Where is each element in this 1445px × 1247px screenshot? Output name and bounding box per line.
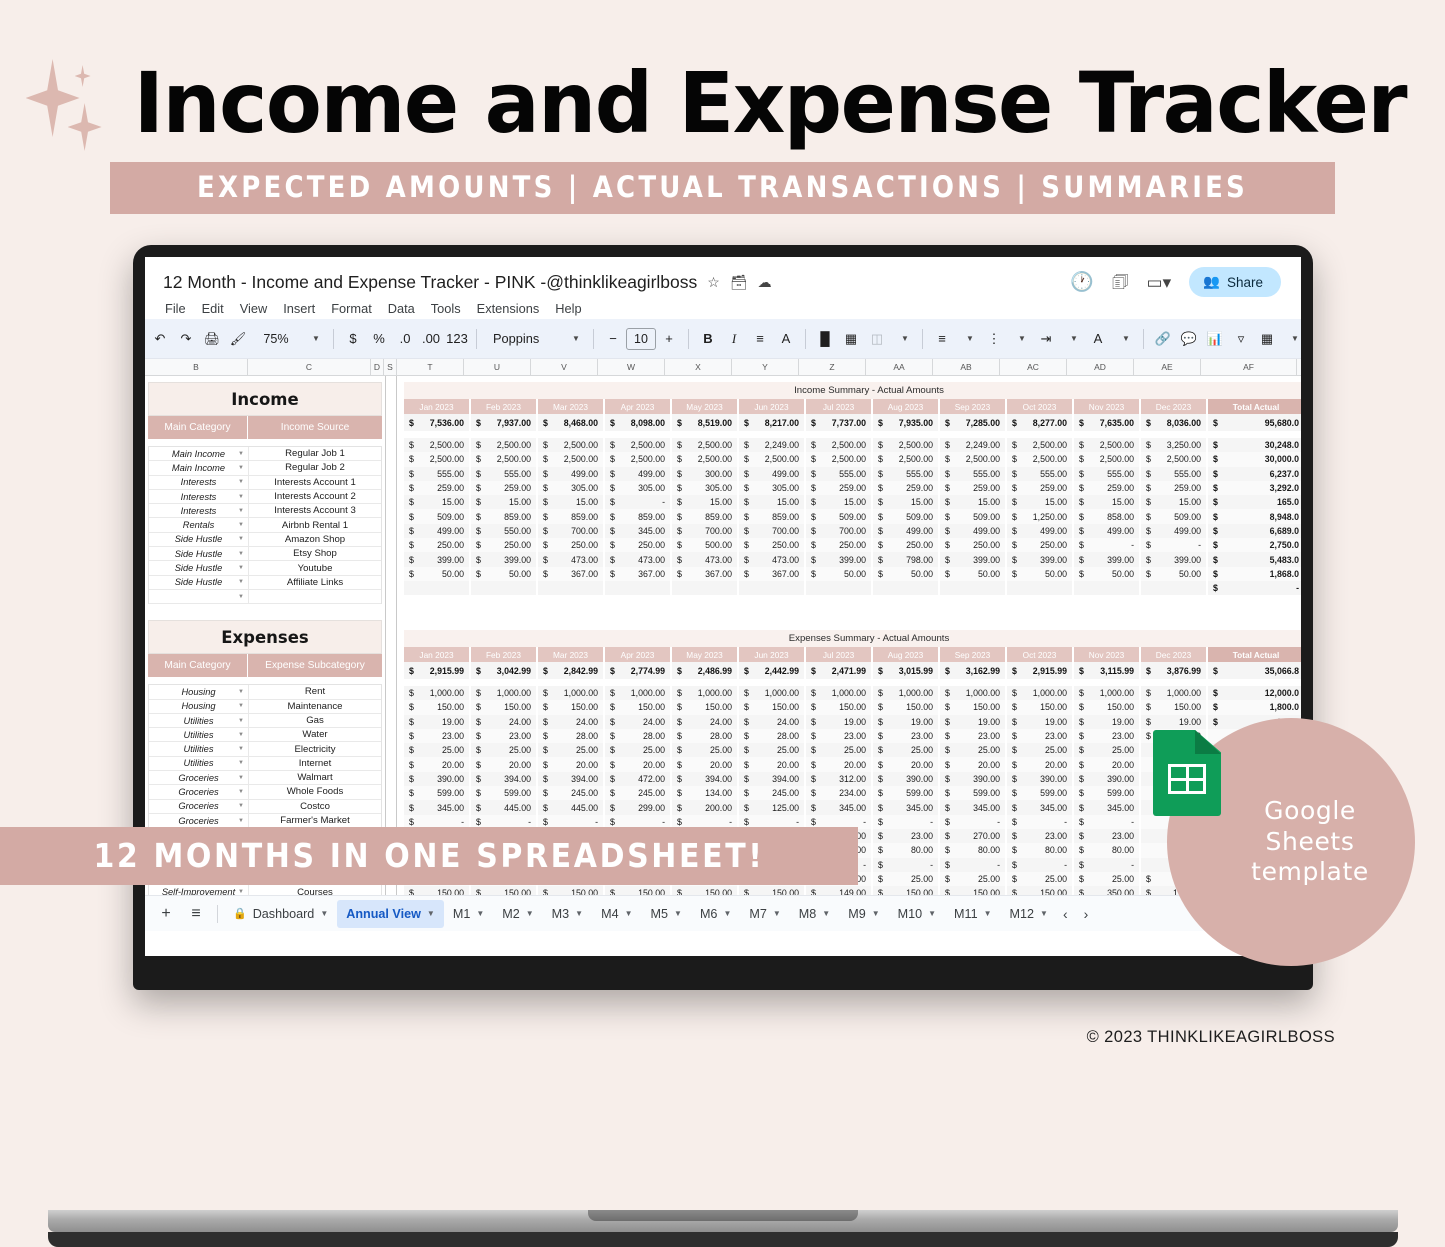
amount-cell[interactable]: $599.00 xyxy=(1007,786,1074,800)
amount-cell[interactable]: $509.00 xyxy=(873,509,940,523)
chevron-down-icon[interactable]: ▼ xyxy=(238,479,244,485)
subcategory-cell[interactable]: Etsy Shop xyxy=(249,547,381,560)
amount-cell[interactable]: $150.00 xyxy=(940,700,1007,714)
insert-comment-icon[interactable]: 💬 xyxy=(1176,325,1202,353)
subcategory-cell[interactable]: Whole Foods xyxy=(249,785,381,798)
amount-cell[interactable]: $15.00 xyxy=(873,495,940,509)
amount-cell[interactable]: $473.00 xyxy=(672,552,739,566)
amount-cell[interactable]: $25.00 xyxy=(1007,872,1074,886)
borders-icon[interactable]: ▦ xyxy=(838,325,864,353)
chevron-down-icon[interactable]: ▼ xyxy=(238,689,244,695)
amount-cell[interactable]: $1,000.00 xyxy=(605,686,672,700)
text-color-icon[interactable]: A xyxy=(773,325,799,353)
amount-cell[interactable]: $150.00 xyxy=(672,700,739,714)
amount-cell[interactable]: $499.00 xyxy=(940,524,1007,538)
main-category-cell[interactable]: Side Hustle▼ xyxy=(149,561,249,574)
amount-cell[interactable]: $345.00 xyxy=(1074,800,1141,814)
amount-cell[interactable]: $700.00 xyxy=(672,524,739,538)
table-row[interactable]: Groceries▼Whole Foods xyxy=(149,785,381,799)
amount-cell[interactable]: $15.00 xyxy=(1141,495,1208,509)
amount-cell[interactable]: $24.00 xyxy=(605,715,672,729)
main-category-cell[interactable]: Housing▼ xyxy=(149,700,249,713)
amount-cell[interactable]: $3,876.99 xyxy=(1141,662,1208,679)
amount-cell[interactable]: $2,915.99 xyxy=(404,662,471,679)
amount-cell[interactable]: $- xyxy=(605,495,672,509)
amount-cell[interactable]: $250.00 xyxy=(739,538,806,552)
sheet-tab-m1[interactable]: M1▼ xyxy=(444,900,493,928)
amount-cell[interactable]: $150.00 xyxy=(1141,700,1208,714)
amount-cell[interactable]: $390.00 xyxy=(1007,772,1074,786)
amount-cell[interactable]: $19.00 xyxy=(1074,715,1141,729)
decrease-decimal-button[interactable]: .0 xyxy=(392,325,418,353)
font-size-input[interactable]: 10 xyxy=(626,328,656,350)
amount-cell[interactable]: $259.00 xyxy=(806,481,873,495)
amount-cell[interactable]: $509.00 xyxy=(806,509,873,523)
menu-item-edit[interactable]: Edit xyxy=(202,301,224,316)
insert-chart-icon[interactable]: 📊 xyxy=(1202,325,1228,353)
amount-cell[interactable]: $23.00 xyxy=(806,729,873,743)
column-header-AE[interactable]: AE xyxy=(1134,359,1201,375)
sheet-tab-m7[interactable]: M7▼ xyxy=(740,900,789,928)
amount-cell[interactable]: $19.00 xyxy=(940,715,1007,729)
all-sheets-icon[interactable]: ≡ xyxy=(181,899,211,929)
main-category-cell[interactable]: Main Income▼ xyxy=(149,461,249,474)
amount-cell[interactable]: $499.00 xyxy=(1074,524,1141,538)
amount-cell[interactable]: $25.00 xyxy=(404,743,471,757)
amount-cell[interactable]: $- xyxy=(1074,858,1141,872)
amount-cell[interactable]: $312.00 xyxy=(806,772,873,786)
amount-cell[interactable]: $599.00 xyxy=(940,786,1007,800)
subcategory-cell[interactable]: Walmart xyxy=(249,771,381,784)
amount-cell[interactable]: $19.00 xyxy=(404,715,471,729)
share-button[interactable]: 👥 Share xyxy=(1189,267,1281,297)
amount-cell[interactable]: $20.00 xyxy=(873,757,940,771)
amount-cell[interactable]: $859.00 xyxy=(538,509,605,523)
amount-cell[interactable]: $700.00 xyxy=(806,524,873,538)
column-header-B[interactable]: B xyxy=(145,359,248,375)
amount-cell[interactable]: $555.00 xyxy=(873,467,940,481)
menu-item-data[interactable]: Data xyxy=(388,301,415,316)
table-row[interactable]: Utilities▼Water xyxy=(149,728,381,742)
amount-cell[interactable]: $394.00 xyxy=(538,772,605,786)
amount-cell[interactable]: $20.00 xyxy=(1007,757,1074,771)
amount-cell[interactable]: $250.00 xyxy=(806,538,873,552)
main-category-cell[interactable]: Rentals▼ xyxy=(149,518,249,531)
rotation-chevron-down-icon[interactable]: ▼ xyxy=(1111,325,1137,353)
chevron-down-icon[interactable]: ▼ xyxy=(723,909,731,918)
amount-cell[interactable]: $250.00 xyxy=(605,538,672,552)
amount-cell[interactable]: $700.00 xyxy=(739,524,806,538)
amount-cell[interactable]: $2,915.99 xyxy=(1007,662,1074,679)
chevron-down-icon[interactable]: ▼ xyxy=(238,465,244,471)
comment-icon[interactable]: 🗊 xyxy=(1112,273,1129,291)
amount-cell[interactable]: $25.00 xyxy=(1007,743,1074,757)
increase-font-size-button[interactable]: + xyxy=(656,325,682,353)
amount-cell[interactable]: $23.00 xyxy=(1007,829,1074,843)
subcategory-cell[interactable]: Amazon Shop xyxy=(249,533,381,546)
chevron-down-icon[interactable]: ▼ xyxy=(238,760,244,766)
amount-cell[interactable]: $8,036.00 xyxy=(1141,414,1208,431)
amount-cell[interactable]: $20.00 xyxy=(940,757,1007,771)
undo-icon[interactable]: ↶ xyxy=(147,325,173,353)
table-row[interactable]: Side Hustle▼Etsy Shop xyxy=(149,547,381,561)
subcategory-cell[interactable]: Maintenance xyxy=(249,700,381,713)
chevron-down-icon[interactable]: ▼ xyxy=(238,565,244,571)
main-category-cell[interactable]: Utilities▼ xyxy=(149,757,249,770)
amount-cell[interactable]: $245.00 xyxy=(739,786,806,800)
amount-cell[interactable]: $245.00 xyxy=(538,786,605,800)
amount-cell[interactable]: $2,774.99 xyxy=(605,662,672,679)
amount-cell[interactable]: $20.00 xyxy=(739,757,806,771)
vertical-align-icon[interactable]: ⋮ xyxy=(981,325,1007,353)
amount-cell[interactable]: $1,000.00 xyxy=(873,686,940,700)
meet-icon[interactable]: ▭▾ xyxy=(1147,274,1172,291)
amount-cell[interactable]: $19.00 xyxy=(1007,715,1074,729)
valign-chevron-down-icon[interactable]: ▼ xyxy=(1007,325,1033,353)
amount-cell[interactable]: $25.00 xyxy=(471,743,538,757)
amount-cell[interactable]: $390.00 xyxy=(940,772,1007,786)
total-cell[interactable]: $165.0 xyxy=(1208,495,1301,509)
amount-cell[interactable]: $7,737.00 xyxy=(806,414,873,431)
amount-cell[interactable]: $150.00 xyxy=(1074,700,1141,714)
column-header-W[interactable]: W xyxy=(598,359,665,375)
sheet-tab-m6[interactable]: M6▼ xyxy=(691,900,740,928)
main-category-cell[interactable]: Side Hustle▼ xyxy=(149,547,249,560)
amount-cell[interactable]: $23.00 xyxy=(471,729,538,743)
amount-cell[interactable]: $24.00 xyxy=(471,715,538,729)
amount-cell[interactable]: $305.00 xyxy=(538,481,605,495)
column-header-S[interactable]: S xyxy=(384,359,397,375)
amount-cell[interactable]: $394.00 xyxy=(739,772,806,786)
amount-cell[interactable]: $500.00 xyxy=(672,538,739,552)
amount-cell[interactable]: $125.00 xyxy=(739,800,806,814)
amount-cell[interactable]: $2,500.00 xyxy=(739,452,806,466)
amount-cell[interactable]: $1,000.00 xyxy=(940,686,1007,700)
amount-cell[interactable] xyxy=(1074,581,1141,595)
amount-cell[interactable]: $2,249.00 xyxy=(739,438,806,452)
amount-cell[interactable]: $28.00 xyxy=(672,729,739,743)
amount-cell[interactable]: $150.00 xyxy=(404,700,471,714)
chevron-down-icon[interactable]: ▼ xyxy=(320,909,328,918)
amount-cell[interactable]: $2,500.00 xyxy=(605,452,672,466)
amount-cell[interactable]: $150.00 xyxy=(1007,700,1074,714)
amount-cell[interactable]: $2,500.00 xyxy=(873,438,940,452)
amount-cell[interactable]: $2,471.99 xyxy=(806,662,873,679)
amount-cell[interactable]: $390.00 xyxy=(1074,772,1141,786)
column-header-V[interactable]: V xyxy=(531,359,598,375)
amount-cell[interactable]: $20.00 xyxy=(605,757,672,771)
amount-cell[interactable]: $20.00 xyxy=(404,757,471,771)
amount-cell[interactable]: $399.00 xyxy=(1074,552,1141,566)
amount-cell[interactable]: $250.00 xyxy=(471,538,538,552)
chevron-down-icon[interactable]: ▼ xyxy=(238,522,244,528)
amount-cell[interactable]: $7,635.00 xyxy=(1074,414,1141,431)
chevron-down-icon[interactable]: ▼ xyxy=(238,732,244,738)
amount-cell[interactable]: $50.00 xyxy=(806,567,873,581)
chevron-down-icon[interactable]: ▼ xyxy=(427,909,435,918)
font-chevron-down-icon[interactable]: ▼ xyxy=(561,325,587,353)
amount-cell[interactable]: $3,042.99 xyxy=(471,662,538,679)
column-header-X[interactable]: X xyxy=(665,359,732,375)
amount-cell[interactable]: $19.00 xyxy=(873,715,940,729)
amount-cell[interactable]: $- xyxy=(940,815,1007,829)
amount-cell[interactable]: $134.00 xyxy=(672,786,739,800)
redo-icon[interactable]: ↷ xyxy=(173,325,199,353)
column-header-AC[interactable]: AC xyxy=(1000,359,1067,375)
main-category-cell[interactable]: Groceries▼ xyxy=(149,785,249,798)
amount-cell[interactable]: $1,250.00 xyxy=(1007,509,1074,523)
amount-cell[interactable]: $25.00 xyxy=(672,743,739,757)
amount-cell[interactable]: $250.00 xyxy=(940,538,1007,552)
amount-cell[interactable]: $20.00 xyxy=(1074,757,1141,771)
amount-cell[interactable]: $1,000.00 xyxy=(1007,686,1074,700)
menu-item-extensions[interactable]: Extensions xyxy=(477,301,540,316)
amount-cell[interactable]: $798.00 xyxy=(873,552,940,566)
total-cell[interactable]: $2,750.0 xyxy=(1208,538,1301,552)
total-cell[interactable]: $5,483.0 xyxy=(1208,552,1301,566)
amount-cell[interactable]: $3,250.00 xyxy=(1141,438,1208,452)
chevron-down-icon[interactable]: ▼ xyxy=(238,579,244,585)
amount-cell[interactable]: $499.00 xyxy=(873,524,940,538)
amount-cell[interactable]: $700.00 xyxy=(538,524,605,538)
font-family-select[interactable]: Poppins xyxy=(483,325,561,353)
column-header-D[interactable]: D xyxy=(371,359,384,375)
amount-cell[interactable]: $15.00 xyxy=(538,495,605,509)
amount-cell[interactable]: $2,249.00 xyxy=(940,438,1007,452)
amount-cell[interactable]: $2,500.00 xyxy=(605,438,672,452)
amount-cell[interactable]: $25.00 xyxy=(940,872,1007,886)
amount-cell[interactable]: $509.00 xyxy=(404,509,471,523)
table-row[interactable]: Interests▼Interests Account 3 xyxy=(149,504,381,518)
chevron-down-icon[interactable]: ▼ xyxy=(238,536,244,542)
subcategory-cell[interactable]: Rent xyxy=(249,685,381,698)
amount-cell[interactable] xyxy=(940,581,1007,595)
move-to-folder-icon[interactable]: 🗃 xyxy=(730,275,748,289)
amount-cell[interactable]: $23.00 xyxy=(1074,829,1141,843)
total-cell[interactable]: $30,248.0 xyxy=(1208,438,1301,452)
amount-cell[interactable]: $2,500.00 xyxy=(1074,438,1141,452)
amount-cell[interactable]: $399.00 xyxy=(1141,552,1208,566)
amount-cell[interactable]: $550.00 xyxy=(471,524,538,538)
menu-item-file[interactable]: File xyxy=(165,301,186,316)
amount-cell[interactable]: $2,500.00 xyxy=(404,452,471,466)
amount-cell[interactable]: $1,000.00 xyxy=(538,686,605,700)
amount-cell[interactable]: $259.00 xyxy=(1007,481,1074,495)
amount-cell[interactable]: $2,500.00 xyxy=(672,452,739,466)
amount-cell[interactable]: $50.00 xyxy=(873,567,940,581)
amount-cell[interactable]: $2,500.00 xyxy=(806,452,873,466)
amount-cell[interactable]: $473.00 xyxy=(538,552,605,566)
amount-cell[interactable]: $1,000.00 xyxy=(806,686,873,700)
subcategory-cell[interactable]: Water xyxy=(249,728,381,741)
chevron-down-icon[interactable]: ▼ xyxy=(238,818,244,824)
main-category-cell[interactable]: Interests▼ xyxy=(149,504,249,517)
amount-cell[interactable]: $1,000.00 xyxy=(739,686,806,700)
column-header-C[interactable]: C xyxy=(248,359,371,375)
horizontal-align-icon[interactable]: ≡ xyxy=(929,325,955,353)
amount-cell[interactable]: $150.00 xyxy=(806,700,873,714)
amount-cell[interactable]: $499.00 xyxy=(605,467,672,481)
total-cell[interactable]: $6,237.0 xyxy=(1208,467,1301,481)
main-category-cell[interactable]: Main Income▼ xyxy=(149,447,249,460)
subcategory-cell[interactable]: Farmer's Market xyxy=(249,814,381,827)
strikethrough-icon[interactable]: ≡ xyxy=(747,325,773,353)
amount-cell[interactable]: $445.00 xyxy=(538,800,605,814)
amount-cell[interactable]: $305.00 xyxy=(605,481,672,495)
amount-cell[interactable]: $399.00 xyxy=(806,552,873,566)
main-category-cell[interactable]: Utilities▼ xyxy=(149,742,249,755)
amount-cell[interactable]: $25.00 xyxy=(806,743,873,757)
amount-cell[interactable]: $8,468.00 xyxy=(538,414,605,431)
chevron-down-icon[interactable]: ▼ xyxy=(928,909,936,918)
amount-cell[interactable]: $23.00 xyxy=(873,829,940,843)
amount-cell[interactable]: $859.00 xyxy=(672,509,739,523)
subcategory-cell[interactable]: Electricity xyxy=(249,742,381,755)
amount-cell[interactable]: $2,500.00 xyxy=(471,452,538,466)
amount-cell[interactable]: $259.00 xyxy=(940,481,1007,495)
main-category-cell[interactable]: Side Hustle▼ xyxy=(149,533,249,546)
amount-cell[interactable]: $50.00 xyxy=(471,567,538,581)
amount-cell[interactable] xyxy=(538,581,605,595)
amount-cell[interactable] xyxy=(471,581,538,595)
table-row[interactable]: Utilities▼Gas xyxy=(149,714,381,728)
amount-cell[interactable]: $345.00 xyxy=(404,800,471,814)
amount-cell[interactable]: $345.00 xyxy=(940,800,1007,814)
total-cell[interactable]: $35,066.8 xyxy=(1208,662,1301,679)
amount-cell[interactable]: $24.00 xyxy=(538,715,605,729)
amount-cell[interactable]: $399.00 xyxy=(1007,552,1074,566)
amount-cell[interactable]: $2,500.00 xyxy=(538,452,605,466)
amount-cell[interactable]: $19.00 xyxy=(1141,715,1208,729)
amount-cell[interactable]: $250.00 xyxy=(538,538,605,552)
amount-cell[interactable]: $473.00 xyxy=(605,552,672,566)
decrease-font-size-button[interactable]: − xyxy=(600,325,626,353)
subcategory-cell[interactable]: Interests Account 3 xyxy=(249,504,381,517)
amount-cell[interactable] xyxy=(739,581,806,595)
main-category-cell[interactable]: Interests▼ xyxy=(149,476,249,489)
version-history-icon[interactable]: 🕐 xyxy=(1070,273,1094,292)
amount-cell[interactable]: $15.00 xyxy=(404,495,471,509)
chevron-down-icon[interactable]: ▼ xyxy=(575,909,583,918)
column-header-Z[interactable]: Z xyxy=(799,359,866,375)
amount-cell[interactable]: $2,500.00 xyxy=(940,452,1007,466)
amount-cell[interactable]: $2,500.00 xyxy=(404,438,471,452)
table-row[interactable]: Main Income▼Regular Job 2 xyxy=(149,461,381,475)
amount-cell[interactable]: $345.00 xyxy=(605,524,672,538)
main-category-cell[interactable]: Utilities▼ xyxy=(149,714,249,727)
table-row[interactable]: Groceries▼Walmart xyxy=(149,771,381,785)
column-header-AB[interactable]: AB xyxy=(933,359,1000,375)
sheet-tab-dashboard[interactable]: 🔒Dashboard▼ xyxy=(224,900,337,928)
amount-cell[interactable] xyxy=(1007,581,1074,595)
amount-cell[interactable]: $390.00 xyxy=(873,772,940,786)
amount-cell[interactable]: $1,000.00 xyxy=(672,686,739,700)
amount-cell[interactable]: $390.00 xyxy=(404,772,471,786)
amount-cell[interactable]: $80.00 xyxy=(1074,843,1141,857)
amount-cell[interactable]: $555.00 xyxy=(1141,467,1208,481)
chevron-down-icon[interactable]: ▼ xyxy=(773,909,781,918)
main-category-cell[interactable]: Housing▼ xyxy=(149,685,249,698)
subcategory-cell[interactable]: Internet xyxy=(249,757,381,770)
column-header-T[interactable]: T xyxy=(397,359,464,375)
table-row[interactable]: Side Hustle▼Amazon Shop xyxy=(149,533,381,547)
amount-cell[interactable]: $394.00 xyxy=(471,772,538,786)
sheet-tab-m10[interactable]: M10▼ xyxy=(889,900,945,928)
sheet-tab-m9[interactable]: M9▼ xyxy=(839,900,888,928)
amount-cell[interactable] xyxy=(873,581,940,595)
amount-cell[interactable]: $150.00 xyxy=(739,700,806,714)
table-row[interactable]: Housing▼Rent xyxy=(149,685,381,699)
percent-format-button[interactable]: % xyxy=(366,325,392,353)
column-header-AA[interactable]: AA xyxy=(866,359,933,375)
amount-cell[interactable]: $367.00 xyxy=(605,567,672,581)
main-category-cell[interactable]: Utilities▼ xyxy=(149,728,249,741)
wrap-chevron-down-icon[interactable]: ▼ xyxy=(1059,325,1085,353)
amount-cell[interactable]: $7,937.00 xyxy=(471,414,538,431)
total-cell[interactable]: $30,000.0 xyxy=(1208,452,1301,466)
amount-cell[interactable]: $399.00 xyxy=(940,552,1007,566)
amount-cell[interactable]: $7,935.00 xyxy=(873,414,940,431)
amount-cell[interactable]: $499.00 xyxy=(1007,524,1074,538)
star-icon[interactable]: ☆ xyxy=(707,275,720,289)
subcategory-cell[interactable]: Interests Account 2 xyxy=(249,490,381,503)
chevron-down-icon[interactable]: ▼ xyxy=(238,789,244,795)
table-row[interactable]: Groceries▼Costco xyxy=(149,800,381,814)
amount-cell[interactable]: $- xyxy=(873,858,940,872)
main-category-cell[interactable]: ▼ xyxy=(149,590,249,603)
zoom-level[interactable]: 75% xyxy=(251,325,301,353)
amount-cell[interactable]: $25.00 xyxy=(940,743,1007,757)
total-cell[interactable]: $95,680.0 xyxy=(1208,414,1301,431)
subcategory-cell[interactable]: Regular Job 1 xyxy=(249,447,381,460)
amount-cell[interactable]: $250.00 xyxy=(1007,538,1074,552)
amount-cell[interactable]: $472.00 xyxy=(605,772,672,786)
amount-cell[interactable]: $2,842.99 xyxy=(538,662,605,679)
sheet-tab-m8[interactable]: M8▼ xyxy=(790,900,839,928)
chevron-down-icon[interactable]: ▼ xyxy=(822,909,830,918)
amount-cell[interactable] xyxy=(404,581,471,595)
table-row[interactable]: Interests▼Interests Account 2 xyxy=(149,490,381,504)
amount-cell[interactable]: $28.00 xyxy=(605,729,672,743)
amount-cell[interactable]: $399.00 xyxy=(404,552,471,566)
amount-cell[interactable]: $445.00 xyxy=(471,800,538,814)
amount-cell[interactable]: $7,285.00 xyxy=(940,414,1007,431)
amount-cell[interactable]: $- xyxy=(1007,815,1074,829)
table-row[interactable]: Main Income▼Regular Job 1 xyxy=(149,447,381,461)
amount-cell[interactable]: $250.00 xyxy=(404,538,471,552)
amount-cell[interactable]: $28.00 xyxy=(538,729,605,743)
amount-cell[interactable]: $3,115.99 xyxy=(1074,662,1141,679)
print-icon[interactable]: 🖨 xyxy=(199,325,225,353)
amount-cell[interactable]: $2,500.00 xyxy=(1007,438,1074,452)
total-cell[interactable]: $8,948.0 xyxy=(1208,509,1301,523)
chevron-down-icon[interactable]: ▼ xyxy=(674,909,682,918)
italic-button[interactable]: I xyxy=(721,325,747,353)
amount-cell[interactable]: $299.00 xyxy=(605,800,672,814)
column-header-Y[interactable]: Y xyxy=(732,359,799,375)
chevron-down-icon[interactable]: ▼ xyxy=(238,746,244,752)
amount-cell[interactable]: $23.00 xyxy=(940,729,1007,743)
amount-cell[interactable]: $50.00 xyxy=(1141,567,1208,581)
amount-cell[interactable]: $245.00 xyxy=(605,786,672,800)
functions-chevron-down-icon[interactable]: ▼ xyxy=(1280,325,1301,353)
amount-cell[interactable]: $2,486.99 xyxy=(672,662,739,679)
amount-cell[interactable] xyxy=(672,581,739,595)
sheet-tab-m12[interactable]: M12▼ xyxy=(1001,900,1057,928)
amount-cell[interactable]: $305.00 xyxy=(739,481,806,495)
main-category-cell[interactable]: Groceries▼ xyxy=(149,771,249,784)
amount-cell[interactable]: $20.00 xyxy=(806,757,873,771)
